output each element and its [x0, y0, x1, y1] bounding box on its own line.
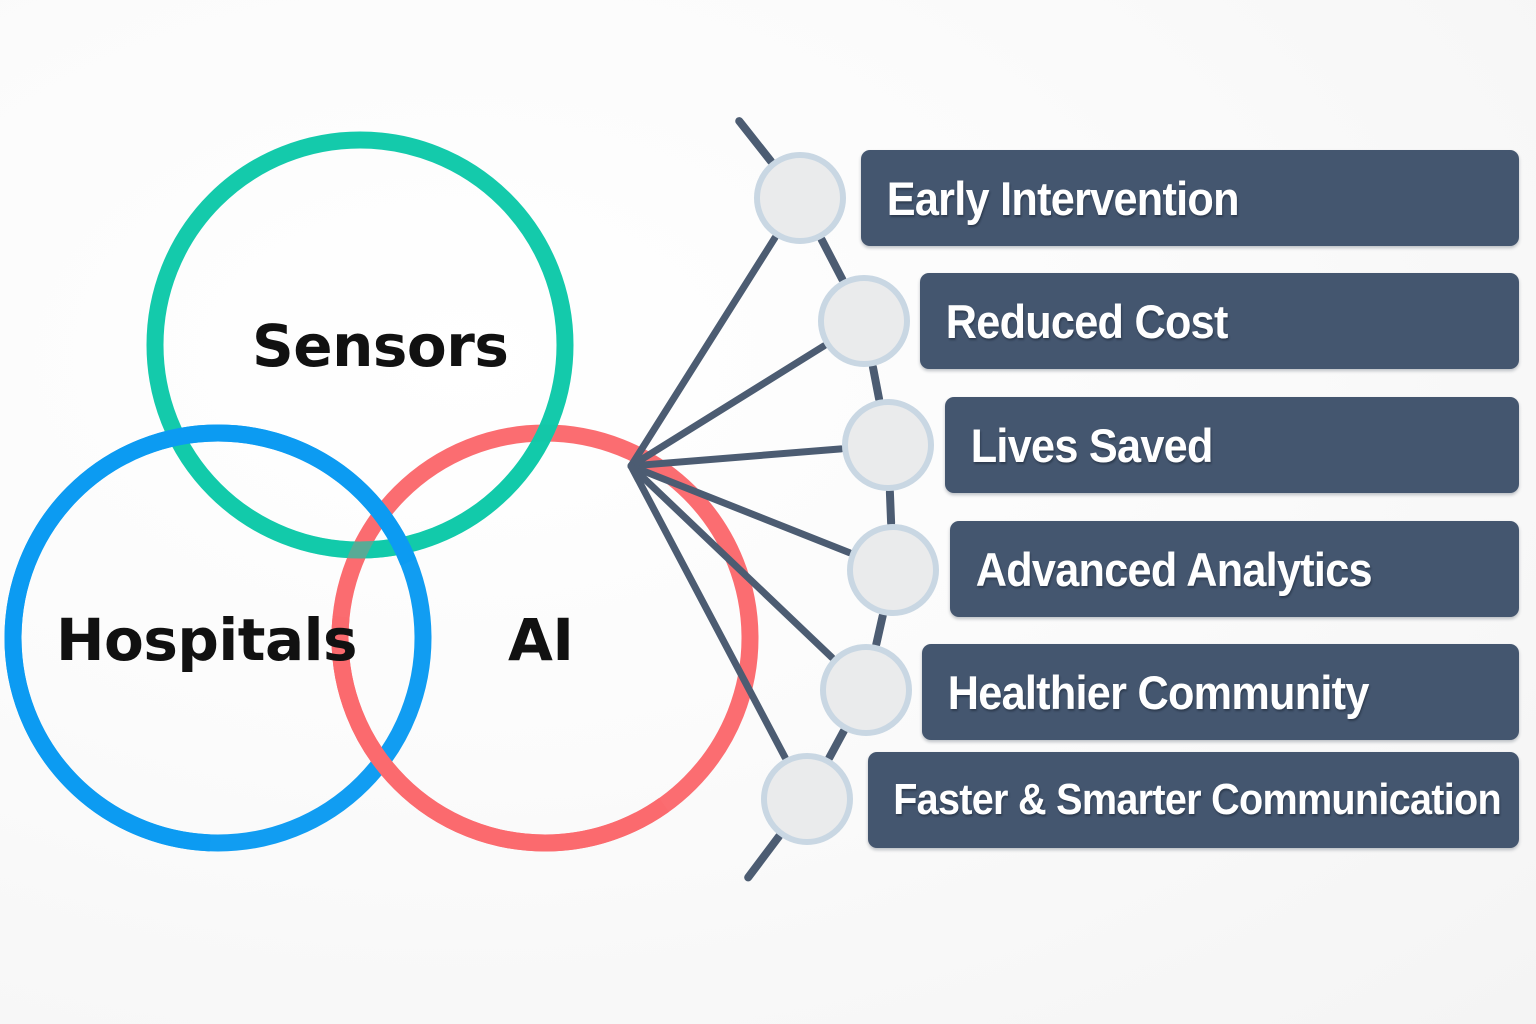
outcome-box-2[interactable]: Reduced Cost	[920, 273, 1519, 369]
outcome-label: Healthier Community	[922, 665, 1369, 720]
outcome-box-1[interactable]: Early Intervention	[861, 150, 1519, 246]
outcome-node-2[interactable]	[821, 278, 907, 364]
outcome-label: Lives Saved	[945, 418, 1213, 473]
chain-line-3	[890, 492, 891, 523]
outcome-node-3[interactable]	[845, 402, 931, 488]
outcome-box-4[interactable]: Advanced Analytics	[950, 521, 1519, 617]
venn-diagram: Sensors Hospitals AI	[0, 0, 760, 1024]
outcome-label: Advanced Analytics	[950, 542, 1372, 597]
chain-line-5	[829, 731, 843, 757]
venn-label-ai: AI	[508, 606, 573, 674]
chain-line-4	[876, 616, 882, 644]
chain-line-2	[873, 367, 879, 399]
outcome-box-6[interactable]: Faster & Smarter Communication	[868, 752, 1519, 848]
venn-label-sensors: Sensors	[252, 312, 508, 380]
chain-line-1	[822, 240, 843, 280]
node-circles	[757, 155, 936, 842]
outcome-node-1[interactable]	[757, 155, 843, 241]
outcome-label: Faster & Smarter Communication	[868, 775, 1501, 825]
venn-circles-svg	[0, 0, 760, 1024]
diagram-canvas: Sensors Hospitals AI Early InterventionR…	[0, 0, 1536, 1024]
outcome-node-6[interactable]	[764, 756, 850, 842]
outcome-node-5[interactable]	[823, 647, 909, 733]
outcome-label: Reduced Cost	[920, 294, 1228, 349]
outcome-box-5[interactable]: Healthier Community	[922, 644, 1519, 740]
venn-label-hospitals: Hospitals	[56, 606, 357, 674]
outcome-box-3[interactable]: Lives Saved	[945, 397, 1519, 493]
outcome-node-4[interactable]	[850, 527, 936, 613]
outcome-label: Early Intervention	[861, 171, 1239, 226]
